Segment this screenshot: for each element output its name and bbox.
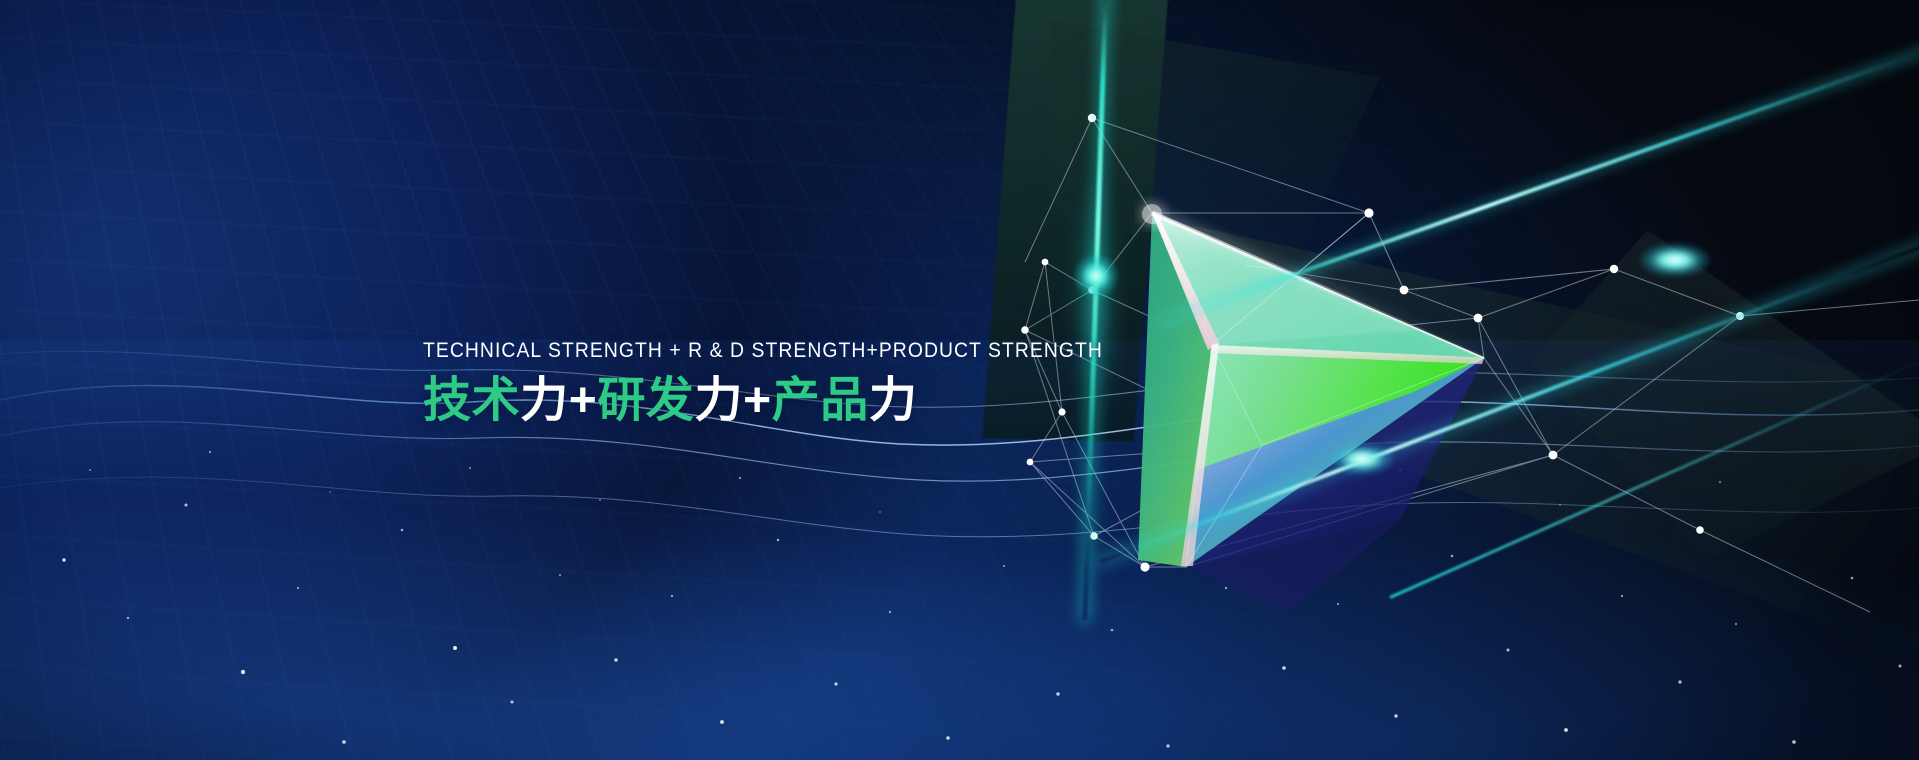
- hero-banner: TECHNICAL STRENGTH + R & D STRENGTH+PROD…: [0, 0, 1919, 760]
- headline-cn-part-2: +: [569, 374, 598, 427]
- headline-cn-part-4: 力: [695, 374, 744, 427]
- headline-cn-part-3: 研发: [597, 374, 694, 427]
- headline-english: TECHNICAL STRENGTH + R & D STRENGTH+PROD…: [423, 340, 1103, 362]
- headline-cn-part-5: +: [743, 374, 772, 427]
- headline-cn-part-1: 力: [520, 374, 569, 427]
- headline-cn-part-7: 力: [869, 374, 918, 427]
- headline-chinese: 技术力+研发力+产品力: [423, 376, 1179, 426]
- headline-block: TECHNICAL STRENGTH + R & D STRENGTH+PROD…: [423, 340, 1179, 425]
- headline-cn-part-0: 技术: [423, 374, 520, 427]
- headline-cn-part-6: 产品: [772, 374, 869, 427]
